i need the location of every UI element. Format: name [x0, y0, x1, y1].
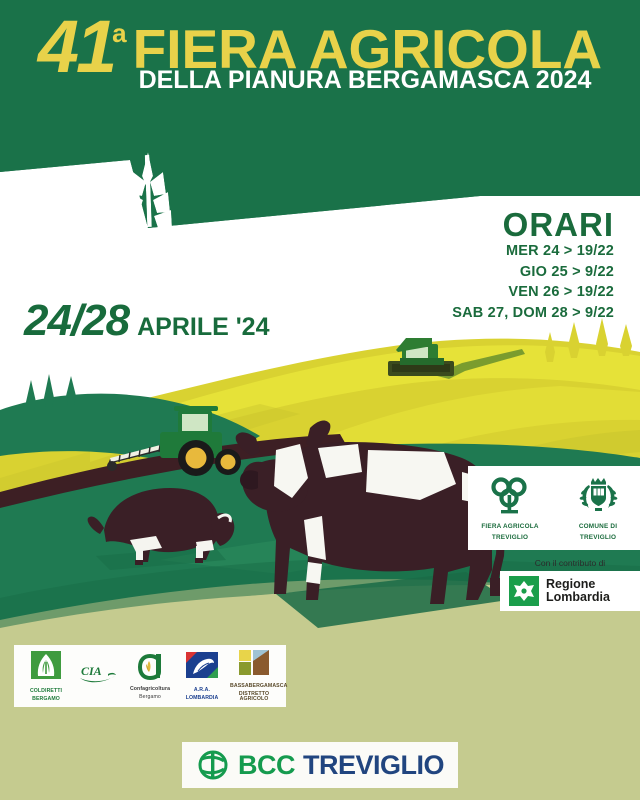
main-sponsor-bar: BCC TREVIGLIO	[182, 742, 458, 788]
partner-caption-line2: DISTRETTO AGRICOLO	[230, 692, 278, 703]
svg-text:CIA: CIA	[81, 664, 102, 678]
partner-caption-line2: Bergamo	[126, 695, 174, 701]
civic-crest-icon	[575, 475, 621, 515]
contributor-name-line2: Lombardia	[546, 591, 610, 605]
contributor-block: Con il contributo di Regione Lombardia	[500, 558, 640, 611]
sponsor-treviglio-label: TREVIGLIO	[303, 750, 444, 781]
hours-line-1: MER 24 > 19/22	[452, 241, 614, 262]
partner-caption-line2: BERGAMO	[22, 697, 70, 703]
partner-caption-line2: LOMBARDIA	[178, 696, 226, 702]
ara-lombardia-icon	[185, 651, 219, 681]
partner-caption-line1: BASSABERGAMASCA	[230, 684, 278, 690]
logo-caption-line2: TREVIGLIO	[474, 534, 546, 541]
hours-title: ORARI	[452, 208, 614, 241]
contributor-label: Con il contributo di	[500, 558, 640, 568]
logo-cia-agricoltori: CIA	[74, 660, 122, 693]
partner-logos-strip: COLDIRETTI BERGAMO CIA Confagricoltura B…	[14, 645, 286, 707]
hours-line-3: VEN 26 > 19/22	[452, 282, 614, 303]
confagricoltura-icon	[137, 652, 163, 680]
sponsor-bcc-label: BCC	[238, 750, 295, 781]
contributor-name-line1: Regione	[546, 578, 610, 592]
partner-caption-line1: Confagricoltura	[126, 687, 174, 693]
trefoil-tree-icon	[487, 475, 533, 515]
logo-ara-lombardia: A.R.A. LOMBARDIA	[178, 651, 226, 701]
logo-confagricoltura-bergamo: Confagricoltura Bergamo	[126, 652, 174, 700]
hours-line-2: GIO 25 > 9/22	[452, 262, 614, 283]
partner-caption-line1: COLDIRETTI	[22, 689, 70, 695]
logo-caption-line1: FIERA AGRICOLA	[474, 523, 546, 530]
organizer-logos-box: FIERA AGRICOLA TREVIGLIO	[468, 466, 640, 550]
logo-coldiretti-bergamo: COLDIRETTI BERGAMO	[22, 650, 70, 702]
opening-hours-block: ORARI MER 24 > 19/22 GIO 25 > 9/22 VEN 2…	[452, 208, 614, 323]
poster-canvas: 41aFIERA AGRICOLA DELLA PIANURA BERGAMAS…	[0, 0, 640, 800]
cia-wordmark-icon: CIA	[78, 660, 118, 686]
logo-fiera-agricola-treviglio: FIERA AGRICOLA TREVIGLIO	[474, 475, 546, 541]
bassabergamasca-fields-icon	[237, 649, 271, 677]
bcc-logo-icon	[196, 748, 230, 782]
regione-lombardia-logo-box: Regione Lombardia	[500, 571, 640, 611]
logo-comune-di-treviglio: COMUNE DI TREVIGLIO	[562, 475, 634, 541]
logo-bassabergamasca-distretto-agricolo: BASSABERGAMASCA DISTRETTO AGRICOLO	[230, 649, 278, 703]
partner-caption-line1: A.R.A.	[178, 688, 226, 694]
logo-caption-line1: COMUNE DI	[562, 523, 634, 530]
event-dates: 24/28	[24, 296, 129, 345]
event-dates-block: 24/28APRILE '24	[24, 296, 269, 346]
event-month: APRILE '24	[137, 313, 269, 341]
coldiretti-shield-icon	[29, 650, 63, 682]
rosa-camuna-icon	[509, 576, 539, 606]
hours-line-4: SAB 27, DOM 28 > 9/22	[452, 303, 614, 324]
logo-caption-line2: TREVIGLIO	[562, 534, 634, 541]
